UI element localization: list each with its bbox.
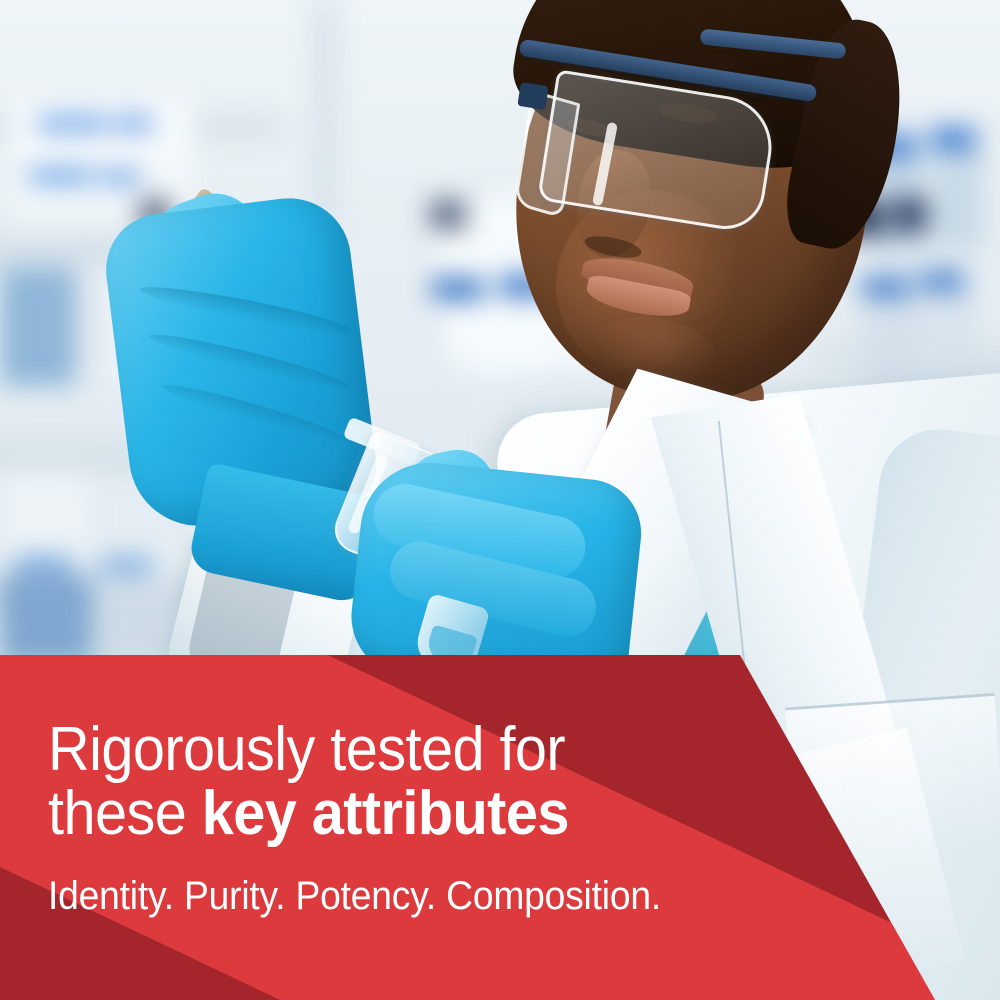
reagent-bottle	[922, 286, 976, 390]
blue-bottle-label	[930, 128, 976, 150]
headline-line-1: Rigorously tested for	[48, 718, 755, 782]
blue-bottle-label	[30, 170, 92, 182]
banner-copy-block: Rigorously tested for these key attribut…	[48, 718, 808, 918]
blue-bottle-label	[38, 118, 108, 130]
blue-bottle-label	[100, 172, 140, 183]
banner-subheadline: Identity. Purity. Potency. Composition.	[48, 874, 755, 918]
banner-headline: Rigorously tested for these key attribut…	[48, 718, 755, 846]
headline-line-2-light: these	[48, 779, 202, 848]
reagent-bottle	[932, 144, 984, 252]
blue-bottle-label	[920, 272, 964, 290]
dark-instrument-block	[893, 198, 927, 232]
lab-rack-column	[315, 0, 335, 235]
headline-line-2: these key attributes	[48, 782, 755, 846]
blue-bottle-label	[862, 278, 910, 296]
blue-bottle-label	[115, 118, 153, 130]
lab-equipment-panel	[0, 470, 90, 570]
blue-bottle-label	[432, 278, 484, 300]
reagent-bottle	[0, 575, 92, 665]
safety-glasses-hinge	[517, 82, 548, 110]
dark-instrument-block	[430, 200, 466, 230]
reagent-bottle	[0, 268, 76, 386]
headline-line-2-bold: key attributes	[202, 779, 569, 848]
blue-bottle-label	[14, 556, 72, 572]
blue-bottle-label	[100, 558, 152, 574]
poster-canvas: Rigorously tested for these key attribut…	[0, 0, 1000, 1000]
reagent-bottle	[862, 290, 920, 390]
